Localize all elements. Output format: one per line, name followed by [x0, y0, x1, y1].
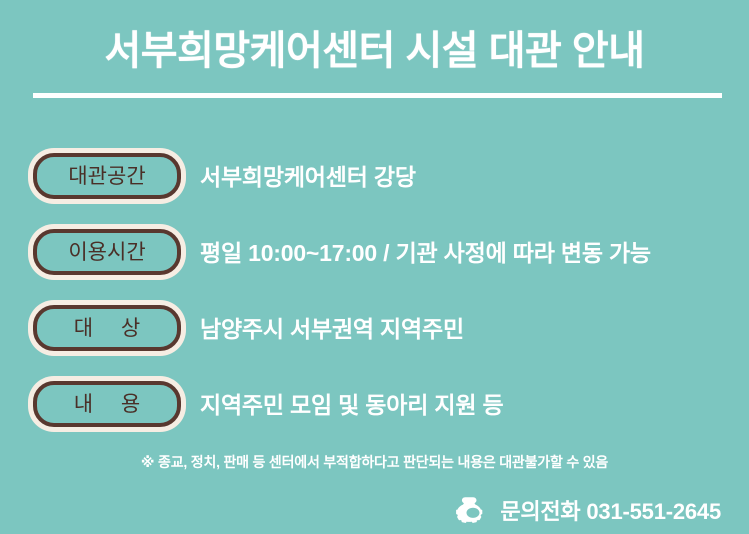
page-title: 서부희망케어센터 시설 대관 안내	[0, 28, 749, 74]
info-row: 대 상 남양주시 서부권역 지역주민	[0, 298, 749, 374]
row-label-text: 대관공간	[68, 166, 145, 187]
info-row: 내 용 지역주민 모임 및 동아리 지원 등	[0, 374, 749, 450]
row-label-pill: 대관공간	[28, 148, 186, 204]
footer-disclaimer: ※ 종교, 정치, 판매 등 센터에서 부적합하다고 판단되는 내용은 대관불가…	[0, 452, 749, 472]
info-row: 대관공간 서부희망케어센터 강당	[0, 146, 749, 222]
row-value-text: 남양주시 서부권역 지역주민	[200, 298, 464, 356]
row-value-text: 서부희망케어센터 강당	[200, 146, 416, 204]
row-label-pill-inner: 대관공간	[33, 153, 181, 199]
row-label-pill: 대 상	[28, 300, 186, 356]
row-label-text: 내 용	[63, 394, 151, 415]
info-row: 이용시간 평일 10:00~17:00 / 기관 사정에 따라 변동 가능	[0, 222, 749, 298]
row-label-pill: 내 용	[28, 376, 186, 432]
row-label-pill-inner: 이용시간	[33, 229, 181, 275]
row-label-pill-inner: 대 상	[33, 305, 181, 351]
info-rows: 대관공간 서부희망케어센터 강당 이용시간 평일 10:00~17:00 / 기…	[0, 146, 749, 450]
row-value-text: 평일 10:00~17:00 / 기관 사정에 따라 변동 가능	[200, 222, 651, 280]
row-label-pill-inner: 내 용	[33, 381, 181, 427]
title-block: 서부희망케어센터 시설 대관 안내	[0, 28, 749, 74]
row-label-pill: 이용시간	[28, 224, 186, 280]
poster-canvas: 서부희망케어센터 시설 대관 안내 대관공간 서부희망케어센터 강당 이용시간 …	[0, 0, 749, 534]
row-value-text: 지역주민 모임 및 동아리 지원 등	[200, 374, 503, 432]
row-label-text: 대 상	[63, 318, 151, 339]
contact-phone-text: 문의전화 031-551-2645	[500, 494, 721, 526]
telephone-icon	[456, 496, 490, 524]
row-label-text: 이용시간	[68, 242, 145, 263]
title-divider	[33, 93, 722, 98]
contact-phone-line: 문의전화 031-551-2645	[456, 494, 721, 526]
